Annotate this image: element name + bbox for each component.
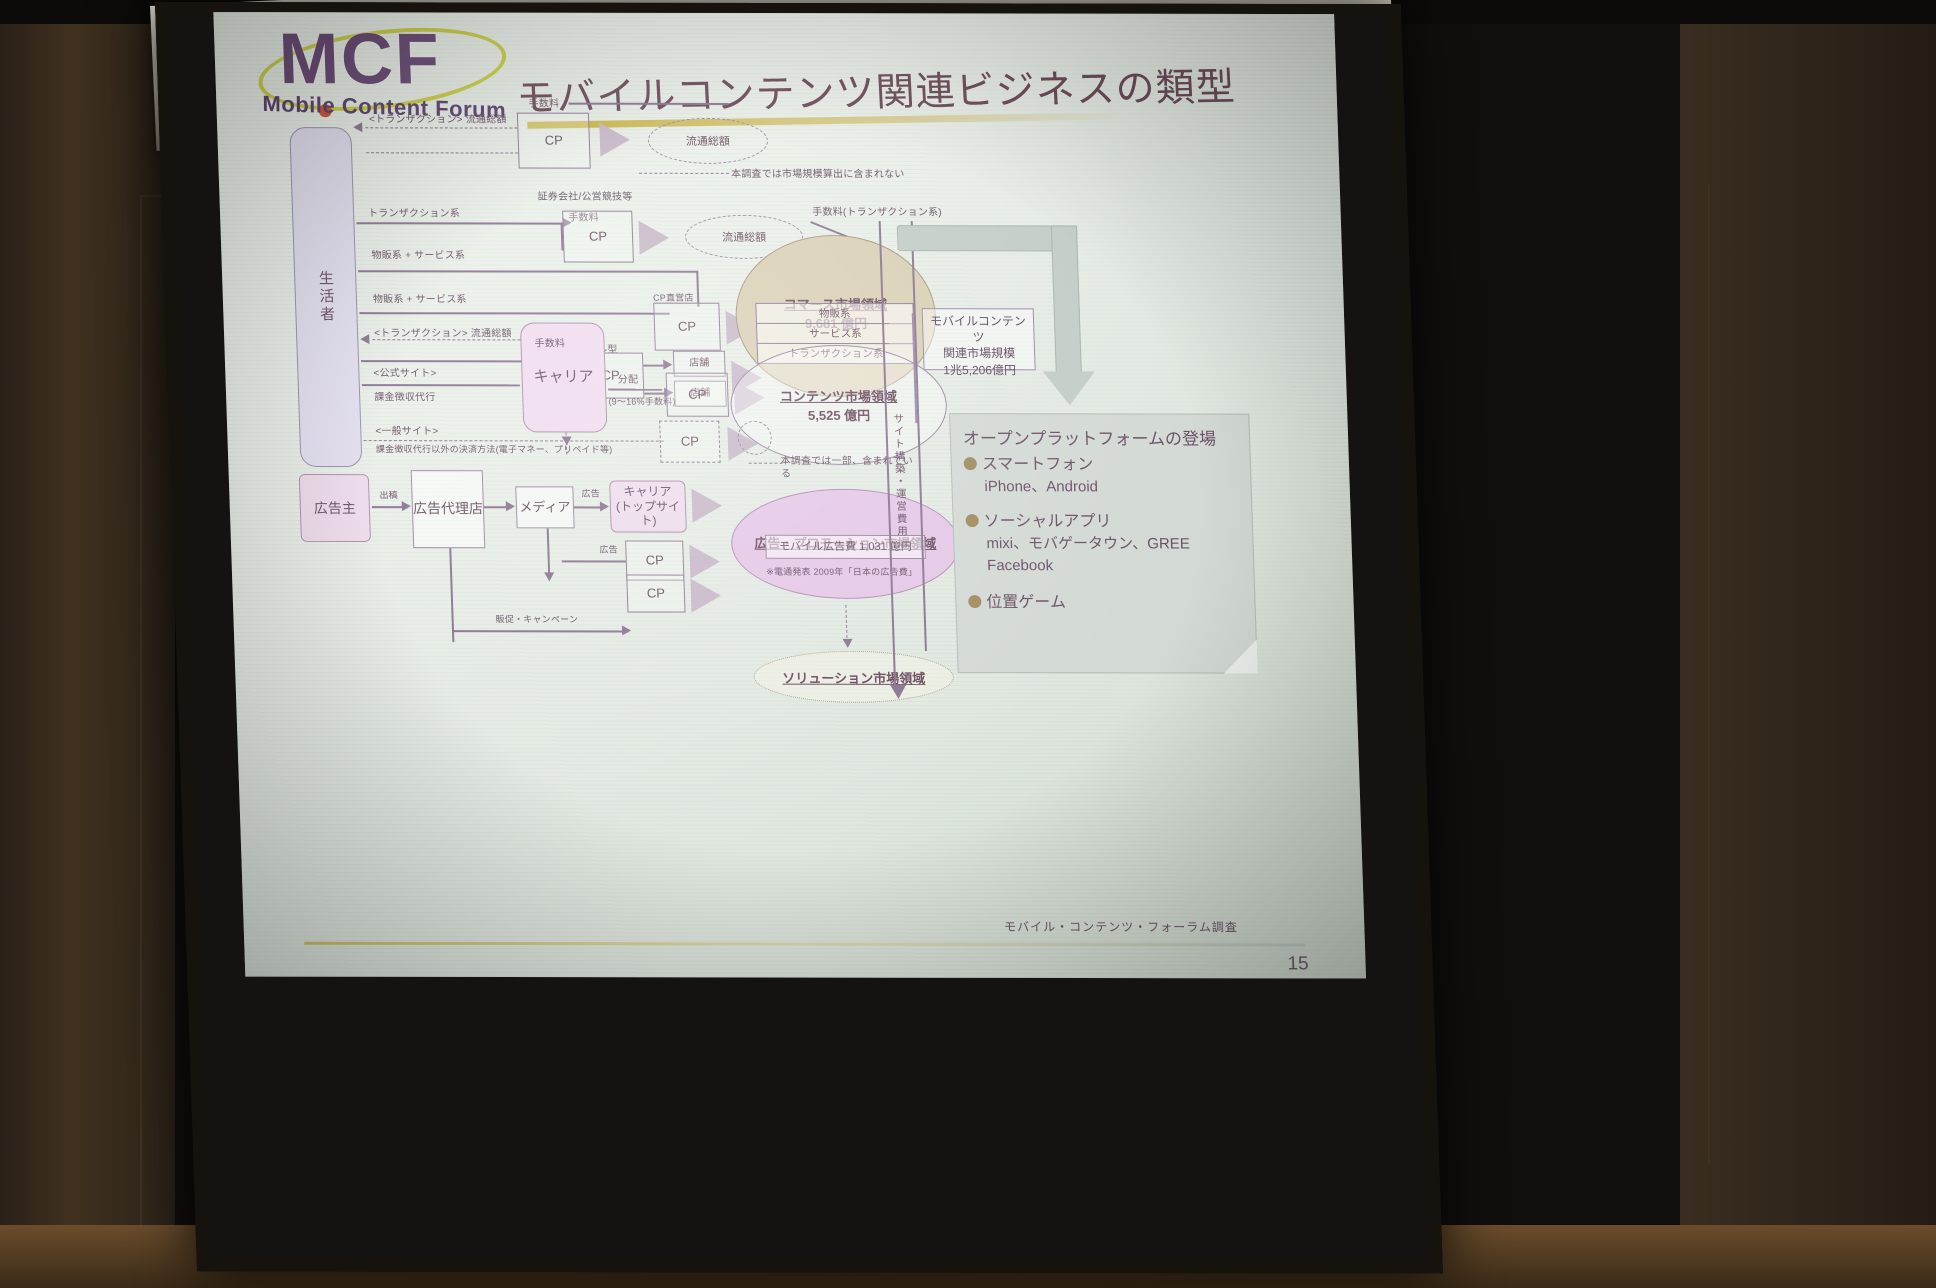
gray-arrow-head [1043, 371, 1096, 405]
ellipse-partial-note-anchor [737, 421, 772, 455]
open-platform-panel: オープンプラットフォームの登場 スマートフォン iPhone、Android ソ… [949, 413, 1258, 673]
panel-item-social-app: ソーシャルアプリ mixi、モバゲータウン、GREE Facebook [965, 510, 1253, 577]
actor-media: メディア [515, 486, 574, 528]
node-cp-ad-2: CP [626, 574, 685, 612]
label-distribution: 分配 [617, 371, 638, 386]
actor-carrier-label: キャリア [533, 369, 594, 386]
label-official-site: <公式サイト> [373, 364, 437, 379]
actor-advertiser: 広告主 [299, 474, 371, 542]
node-cp-3-label: CP [678, 319, 697, 334]
panel-fold-corner [1223, 639, 1258, 673]
node-cp-2-label: CP [589, 229, 608, 244]
actor-media-label: メディア [519, 500, 571, 515]
label-securities-public-race: 証券会社/公営競技等 [537, 188, 632, 203]
panel-item-smartphone-label: スマートフォン [982, 456, 1094, 473]
total-market-line-2: 関連市場規模 [943, 347, 1016, 361]
flow-line-fee-1 [569, 103, 729, 105]
arrow-to-consumer-2 [360, 334, 369, 344]
flow-line-transaction-1 [365, 127, 517, 128]
market-content-title: コンテンツ市場領域 [780, 386, 898, 405]
market-commerce-row-1: サービス系 [757, 324, 914, 344]
panel-item-social-app-label: ソーシャルアプリ [983, 513, 1111, 530]
arrow-to-media [506, 501, 515, 511]
triangle-marker-8 [689, 545, 720, 579]
triangle-marker-9 [690, 579, 721, 613]
label-ad-2: 広告 [599, 542, 618, 555]
room-wall-right [1680, 0, 1936, 1288]
label-transaction-distribution-1: <トランザクション> 流通総額 [369, 110, 507, 125]
presentation-slide: MCF Mobile Content Forum モバイルコンテンツ関連ビジネス… [213, 12, 1366, 978]
panel-heading: オープンプラットフォームの登場 [962, 424, 1249, 449]
arrow-to-shop-1 [663, 360, 672, 370]
actor-consumer-label: 生活者 [316, 270, 335, 324]
actor-ad-agency: 広告代理店 [411, 470, 486, 548]
arrow-to-carrier-top [600, 501, 609, 511]
arrow-promotion [622, 625, 631, 635]
arrow-ad-placement [402, 501, 411, 511]
triangle-marker-7 [691, 489, 722, 523]
triangle-marker-1 [599, 123, 630, 157]
panel-item-location-game: 位置ゲーム [968, 591, 1255, 615]
node-cp-2: CP [562, 211, 634, 263]
node-shop-1-label: 店舗 [689, 358, 709, 370]
node-cp-content-label: CP [688, 387, 707, 402]
flow-line-media-down [547, 528, 550, 576]
actor-consumer: 生活者 [289, 127, 362, 467]
market-solution-title: ソリューション市場領域 [782, 667, 925, 686]
actor-carrier-top-label: キャリア (トップサイト) [610, 485, 685, 528]
flow-line-general-site [364, 440, 664, 442]
gray-arrow-stem-v [1051, 225, 1082, 375]
arrow-media-down [544, 572, 554, 581]
label-other-payment: 課金徴収代行以外の決済方法(電子マネー、プリペイド等) [376, 444, 617, 456]
label-fee-1: 手数料 [528, 95, 559, 110]
projection-screen: MCF Mobile Content Forum モバイルコンテンツ関連ビジネス… [155, 2, 1443, 1273]
flow-line-ad-to-solution [845, 605, 847, 643]
node-cp-content: CP [666, 373, 729, 417]
note-leader-1 [639, 173, 729, 174]
ellipse-distribution-1: 流通総額 [647, 118, 769, 164]
node-cp-1: CP [517, 113, 591, 169]
label-fee-3: 手数料 [534, 334, 565, 349]
node-cp-general-label: CP [681, 434, 700, 449]
actor-ad-agency-label: 広告代理店 [413, 500, 484, 518]
flow-line-goods-2 [359, 312, 669, 314]
node-cp-ad-1-label: CP [646, 553, 665, 568]
market-advertising-value-box: モバイル広告費 1,031 億円 [765, 535, 926, 559]
flow-line-agency-down [449, 548, 454, 642]
bullet-icon [964, 457, 977, 470]
panel-item-smartphone-sub: iPhone、Android [984, 476, 1251, 498]
label-ad-placement: 出稿 [379, 488, 398, 501]
label-transaction-type: トランザクション系 [368, 204, 460, 219]
market-commerce-row-0: 物販系 [756, 304, 913, 324]
market-content-value: 5,525 億円 [808, 405, 871, 424]
total-market-line-3: 1兆5,206億円 [943, 363, 1016, 377]
flow-line-goods-1 [358, 270, 698, 272]
actor-carrier-top: キャリア (トップサイト) [609, 481, 687, 533]
node-cp-general: CP [659, 421, 720, 463]
market-solution: ソリューション市場領域 [753, 651, 955, 703]
label-fee-transaction: 手数料(トランザクション系) [812, 203, 942, 218]
ellipse-distribution-2-label: 流通総額 [722, 229, 767, 245]
market-advertising-note: ※電通発表 2009年「日本の広告費」 [766, 565, 917, 578]
actor-advertiser-label: 広告主 [314, 500, 357, 516]
total-market-line-1: モバイルコンテンツ [930, 314, 1026, 344]
panel-item-location-game-label: 位置ゲーム [986, 594, 1066, 611]
arrow-to-consumer-1 [353, 122, 362, 132]
flow-line-ad-2 [562, 560, 626, 562]
page-number: 15 [1287, 953, 1309, 975]
total-market-box: モバイルコンテンツ 関連市場規模 1兆5,206億円 [922, 308, 1036, 370]
triangle-marker-2 [639, 221, 670, 255]
panel-item-social-app-sub: mixi、モバゲータウン、GREE Facebook [986, 533, 1254, 577]
flow-line-transaction-1b [366, 152, 518, 153]
label-billing-agency: 課金徴収代行 [374, 388, 436, 403]
label-promotion-campaign: 販促・キャンペーン [495, 612, 578, 625]
label-general-site: <一般サイト> [375, 422, 439, 437]
label-ad-1: 広告 [581, 486, 600, 499]
arrow-ad-to-solution [842, 639, 852, 648]
node-cp-3: CP [653, 303, 721, 351]
ellipse-distribution-1-label: 流通総額 [686, 133, 731, 149]
flow-line-distribution [608, 389, 662, 391]
label-goods-service-2: 物販系 + サービス系 [373, 290, 467, 305]
label-goods-service-1: 物販系 + サービス系 [371, 246, 465, 261]
panel-item-smartphone: スマートフォン iPhone、Android [963, 453, 1251, 498]
source-note: モバイル・コンテンツ・フォーラム調査 [1004, 918, 1238, 935]
flow-line-goods-1v [696, 271, 699, 307]
flow-line-official [362, 384, 520, 386]
flow-line-promotion [452, 630, 628, 632]
photo-of-projected-slide: MCF Mobile Content Forum モバイルコンテンツ関連ビジネス… [0, 0, 1936, 1288]
bullet-icon [968, 595, 981, 608]
label-transaction-distribution-2: <トランザクション> 流通総額 [374, 324, 512, 339]
flow-line-transaction-2 [356, 222, 561, 224]
panel-list: スマートフォン iPhone、Android ソーシャルアプリ mixi、モバゲ… [963, 453, 1255, 614]
arrow-bracket-down [890, 685, 906, 699]
node-cp-1-label: CP [545, 133, 564, 148]
note-not-included: 本調査では市場規模算出に含まれない [731, 165, 905, 180]
market-advertising-value: モバイル広告費 1,031 億円 [779, 540, 912, 553]
node-cp-ad-2-label: CP [647, 586, 666, 601]
wall-panel-edge-right [1620, 185, 1710, 1165]
note-leader-2 [749, 463, 783, 464]
bullet-icon [965, 514, 978, 527]
